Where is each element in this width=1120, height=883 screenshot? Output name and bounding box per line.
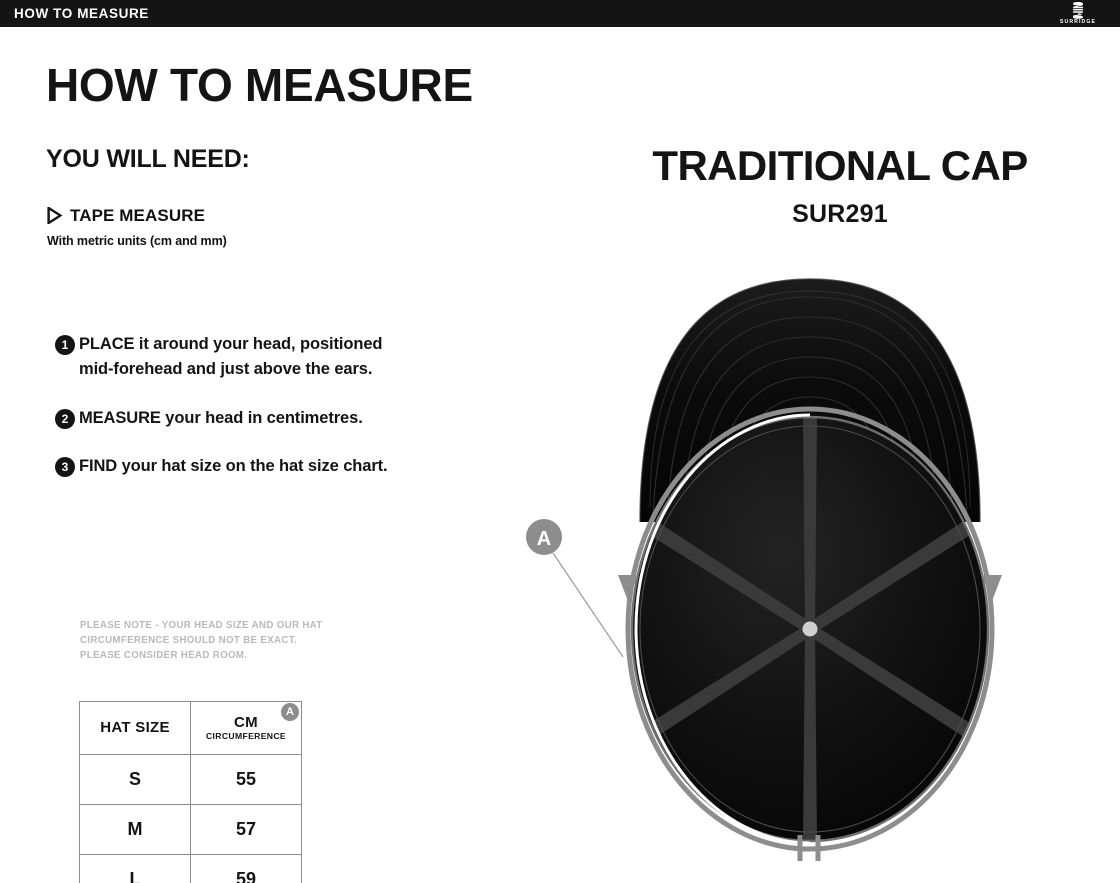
right-column: TRADITIONAL CAP SUR291: [560, 27, 1120, 883]
tape-measure-item: TAPE MEASURE: [47, 207, 205, 224]
triangle-right-icon: [47, 207, 62, 224]
hat-size-table: HAT SIZE CM CIRCUMFERENCE S 55 M 57: [79, 701, 302, 883]
cap-diagram: A: [500, 257, 1120, 883]
tape-measure-sublabel: With metric units (cm and mm): [47, 235, 227, 248]
table-row: M 57: [80, 805, 302, 855]
cell-circumference: 59: [191, 855, 302, 883]
page-title: HOW TO MEASURE: [46, 62, 473, 108]
tape-measure-label: TAPE MEASURE: [70, 207, 205, 224]
step-number-badge: 3: [55, 457, 75, 477]
table-header-unit-sub: CIRCUMFERENCE: [191, 731, 301, 741]
steps-list: 1 PLACE it around your head, positioned …: [55, 332, 455, 503]
left-column: HOW TO MEASURE YOU WILL NEED: TAPE MEASU…: [0, 27, 560, 883]
you-will-need-heading: YOU WILL NEED:: [46, 147, 250, 172]
please-note-text: PLEASE NOTE - YOUR HEAD SIZE AND OUR HAT…: [80, 618, 323, 663]
cell-hat-size: L: [80, 855, 191, 883]
brand-name: SURRIDGE: [1060, 20, 1096, 25]
traditional-cap-top-view-illustration: A: [500, 257, 1120, 883]
step-text: MEASURE your head in centimetres.: [79, 406, 363, 431]
top-bar: HOW TO MEASURE SURRIDGE: [0, 0, 1120, 27]
product-code: SUR291: [560, 202, 1120, 227]
how-to-measure-page: HOW TO MEASURE SURRIDGE HOW TO MEASURE Y…: [0, 0, 1120, 883]
table-row: S 55: [80, 755, 302, 805]
top-bar-title: HOW TO MEASURE: [14, 7, 149, 21]
crown-centre-button: [803, 622, 818, 637]
table-measurement-badge-a: A: [281, 703, 299, 721]
step-item: 3 FIND your hat size on the hat size cha…: [55, 454, 455, 479]
step-item: 1 PLACE it around your head, positioned …: [55, 332, 455, 382]
cell-hat-size: S: [80, 755, 191, 805]
table-header-row: HAT SIZE CM CIRCUMFERENCE: [80, 702, 302, 755]
step-item: 2 MEASURE your head in centimetres.: [55, 406, 455, 431]
step-number-badge: 1: [55, 335, 75, 355]
cell-circumference: 55: [191, 755, 302, 805]
table-row: L 59: [80, 855, 302, 883]
callout-label: A: [537, 528, 551, 550]
cell-circumference: 57: [191, 805, 302, 855]
surridge-s-logo-icon: [1070, 2, 1086, 19]
product-title: TRADITIONAL CAP: [560, 145, 1120, 187]
step-text: FIND your hat size on the hat size chart…: [79, 454, 388, 479]
cell-hat-size: M: [80, 805, 191, 855]
step-number-badge: 2: [55, 409, 75, 429]
step-text: PLACE it around your head, positioned mi…: [79, 332, 399, 382]
callout-leader-line: [553, 553, 623, 657]
brand-logo: SURRIDGE: [1046, 1, 1110, 27]
table-header-hat-size: HAT SIZE: [80, 702, 191, 755]
